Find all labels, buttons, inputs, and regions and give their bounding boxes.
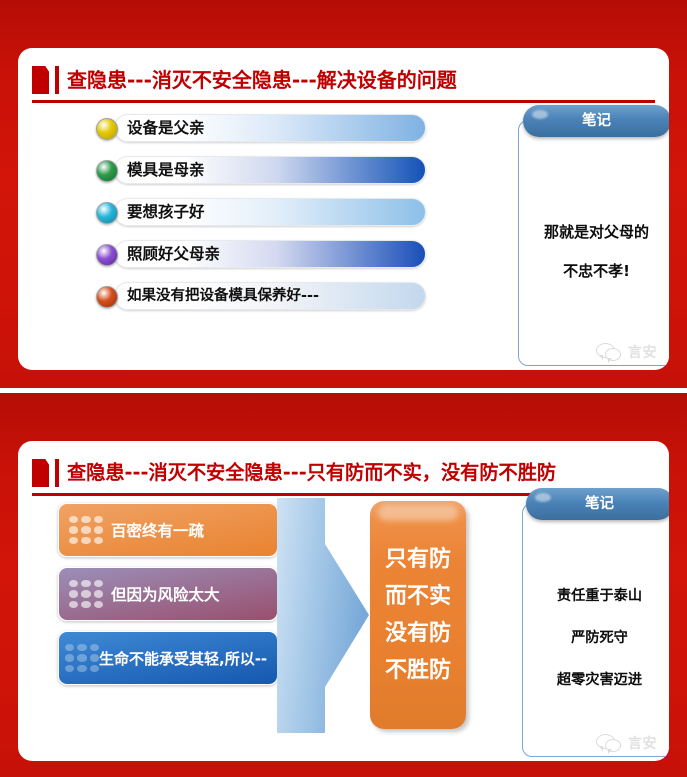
step-box[interactable]: 但因为风险太大 [58,567,278,621]
slide-1-title-underline [32,100,655,103]
bullet-dot-icon [96,202,118,224]
callout-line: 没有防 [385,622,451,645]
note-line: 那就是对父母的 [544,221,649,242]
note-line: 严防死守 [571,627,628,647]
slide-2: 查隐患---消灭不安全隐患---只有防而不实，没有防不胜防 百密终有一疏 但因为… [0,393,687,777]
slide-1-card: 查隐患---消灭不安全隐患---解决设备的问题 设备是父亲 模具是母亲 要想孩子… [18,48,669,370]
step-box-label: 但因为风险太大 [111,583,220,605]
callout-line: 不胜防 [385,659,451,682]
slide-2-title: 查隐患---消灭不安全隐患---只有防而不实，没有防不胜防 [67,463,556,482]
list-item-label: 如果没有把设备模具保养好--- [127,282,319,310]
callout-line: 只有防 [385,548,451,571]
note-box: 笔记 那就是对父母的 不忠不孝! [518,120,669,366]
note-box: 笔记 责任重于泰山 严防死守 超零灾害迈进 [522,503,669,757]
slide-1-bullet-list: 设备是父亲 模具是母亲 要想孩子好 照顾好父母亲 如果没有把设备模具保养好--- [96,114,426,324]
bullet-dot-icon [96,286,118,308]
flag-icon [32,66,49,94]
list-item-label: 照顾好父母亲 [127,240,220,268]
slide-2-title-row: 查隐患---消灭不安全隐患---只有防而不实，没有防不胜防 [32,453,655,493]
note-body: 那就是对父母的 不忠不孝! [519,121,669,365]
list-item[interactable]: 照顾好父母亲 [96,240,426,268]
watermark-label: 言安 [628,342,657,362]
list-item-label: 要想孩子好 [127,198,205,226]
slide-1: 查隐患---消灭不安全隐患---解决设备的问题 设备是父亲 模具是母亲 要想孩子… [0,0,687,388]
callout-line: 而不实 [385,585,451,608]
bullet-dot-icon [96,160,118,182]
flag-icon [32,459,49,487]
dot-grid-icon [69,516,103,544]
list-item[interactable]: 如果没有把设备模具保养好--- [96,282,426,310]
note-line: 责任重于泰山 [557,585,642,605]
wechat-icon [596,733,626,753]
bullet-dot-icon [96,244,118,266]
title-divider-bar [55,66,59,94]
step-box-label: 百密终有一疏 [111,519,204,541]
note-line: 超零灾害迈进 [557,669,642,689]
watermark: 言安 [596,733,657,753]
list-item-label: 模具是母亲 [127,156,205,184]
note-body: 责任重于泰山 严防死守 超零灾害迈进 [523,504,669,756]
wechat-icon [596,342,626,362]
watermark-label: 言安 [628,733,657,753]
slide-2-card: 查隐患---消灭不安全隐患---只有防而不实，没有防不胜防 百密终有一疏 但因为… [18,441,669,761]
step-box[interactable]: 百密终有一疏 [58,503,278,557]
dot-grid-icon [69,580,103,608]
list-item[interactable]: 设备是父亲 [96,114,426,142]
callout-box: 只有防 而不实 没有防 不胜防 [370,501,466,729]
note-line: 不忠不孝! [563,260,630,281]
slide-1-title-row: 查隐患---消灭不安全隐患---解决设备的问题 [32,60,655,100]
watermark: 言安 [596,342,657,362]
list-item[interactable]: 要想孩子好 [96,198,426,226]
slide-2-step-stack: 百密终有一疏 但因为风险太大 生命不能承受其轻,所以-- [58,503,278,695]
title-divider-bar [55,459,59,487]
bullet-dot-icon [96,118,118,140]
step-box-label: 生命不能承受其轻,所以-- [99,648,267,669]
slide-1-title: 查隐患---消灭不安全隐患---解决设备的问题 [67,70,457,90]
list-item-label: 设备是父亲 [127,114,205,142]
step-box[interactable]: 生命不能承受其轻,所以-- [58,631,278,685]
process-arrow-icon [261,498,371,733]
dot-grid-icon [65,644,99,672]
note-header-pill: 笔记 [526,488,670,520]
list-item[interactable]: 模具是母亲 [96,156,426,184]
note-header-pill: 笔记 [523,105,670,137]
